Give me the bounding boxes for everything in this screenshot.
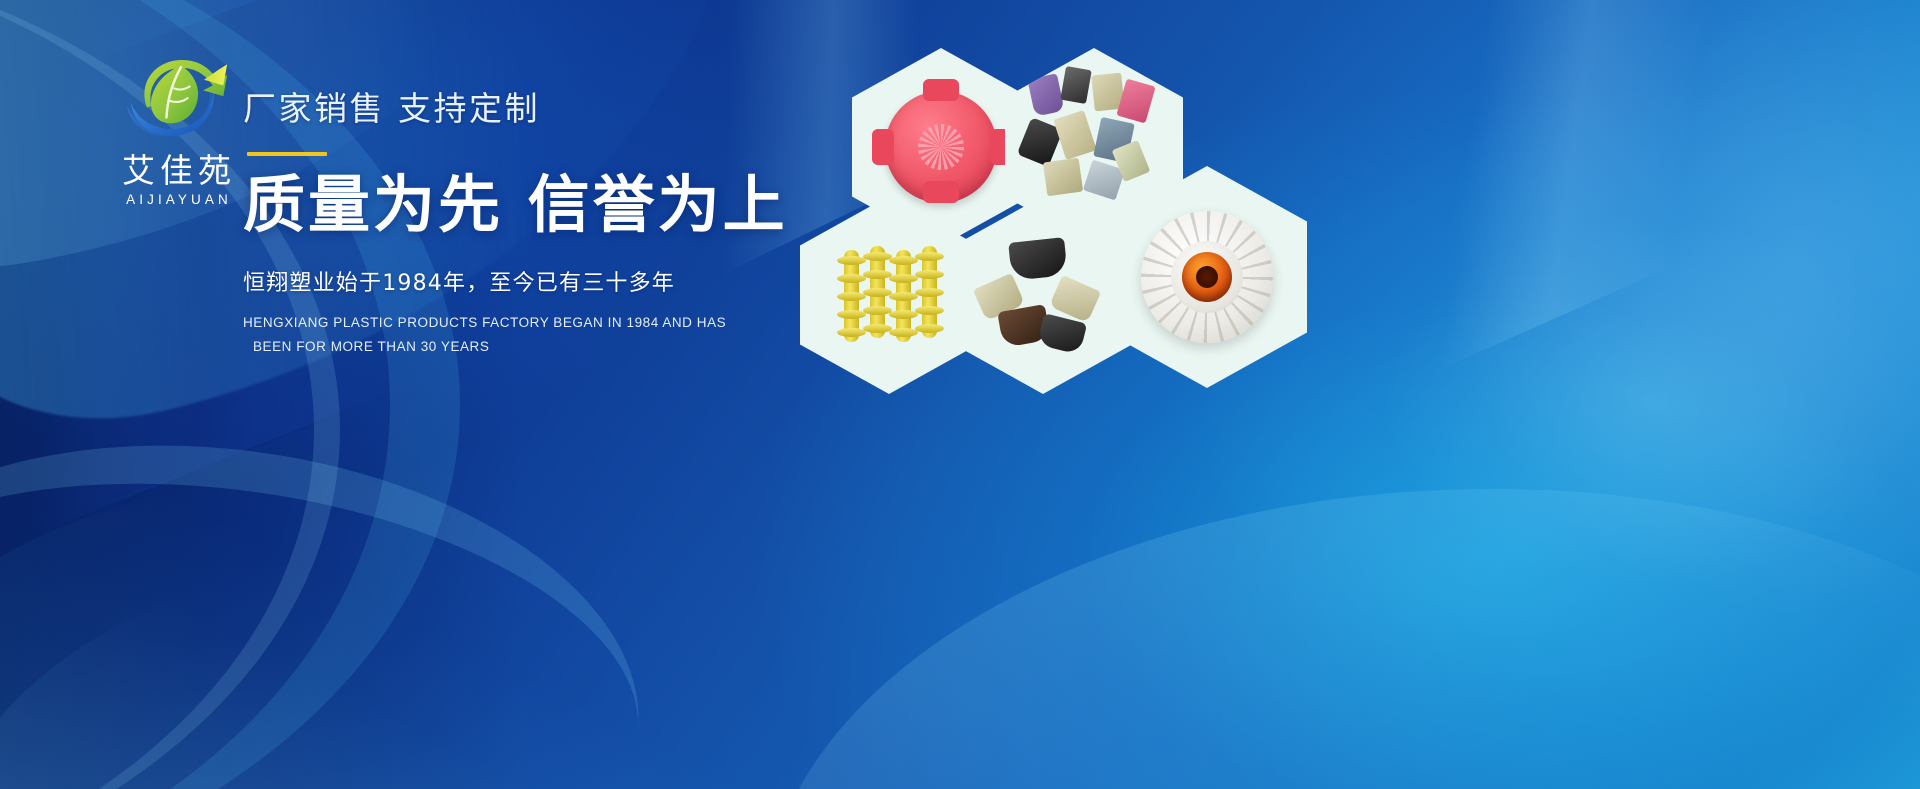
- right-glow-orb: [1420, 0, 1920, 640]
- tagline-text: 厂家销售 支持定制: [243, 82, 788, 130]
- subtitle-english: HENGXIANG PLASTIC PRODUCTS FACTORY BEGAN…: [243, 311, 788, 358]
- promotional-banner: 艾佳苑 AIJIAYUAN 厂家销售 支持定制 质量为先 信誉为上 恒翔塑业始于…: [0, 0, 1920, 789]
- copy-block: 厂家销售 支持定制 质量为先 信誉为上 恒翔塑业始于1984年，至今已有三十多年…: [243, 82, 788, 359]
- bottom-wave-2: [0, 502, 1064, 789]
- bottom-left-arc-stroke: [0, 396, 669, 789]
- product-hexagon-cluster: [800, 38, 1310, 383]
- subtitle-chinese: 恒翔塑业始于1984年，至今已有三十多年: [243, 265, 788, 297]
- leaf-swoosh-logo-icon: [121, 48, 237, 152]
- bottom-wave-3: [739, 441, 1920, 789]
- gold-divider-rule: [247, 152, 327, 156]
- bottom-wave-1: [0, 395, 1123, 789]
- headline-text: 质量为先 信誉为上: [243, 170, 788, 239]
- subtitle-english-line1: HENGXIANG PLASTIC PRODUCTS FACTORY BEGAN…: [243, 315, 726, 330]
- subtitle-english-line2: BEEN FOR MORE THAN 30 YEARS: [243, 335, 788, 359]
